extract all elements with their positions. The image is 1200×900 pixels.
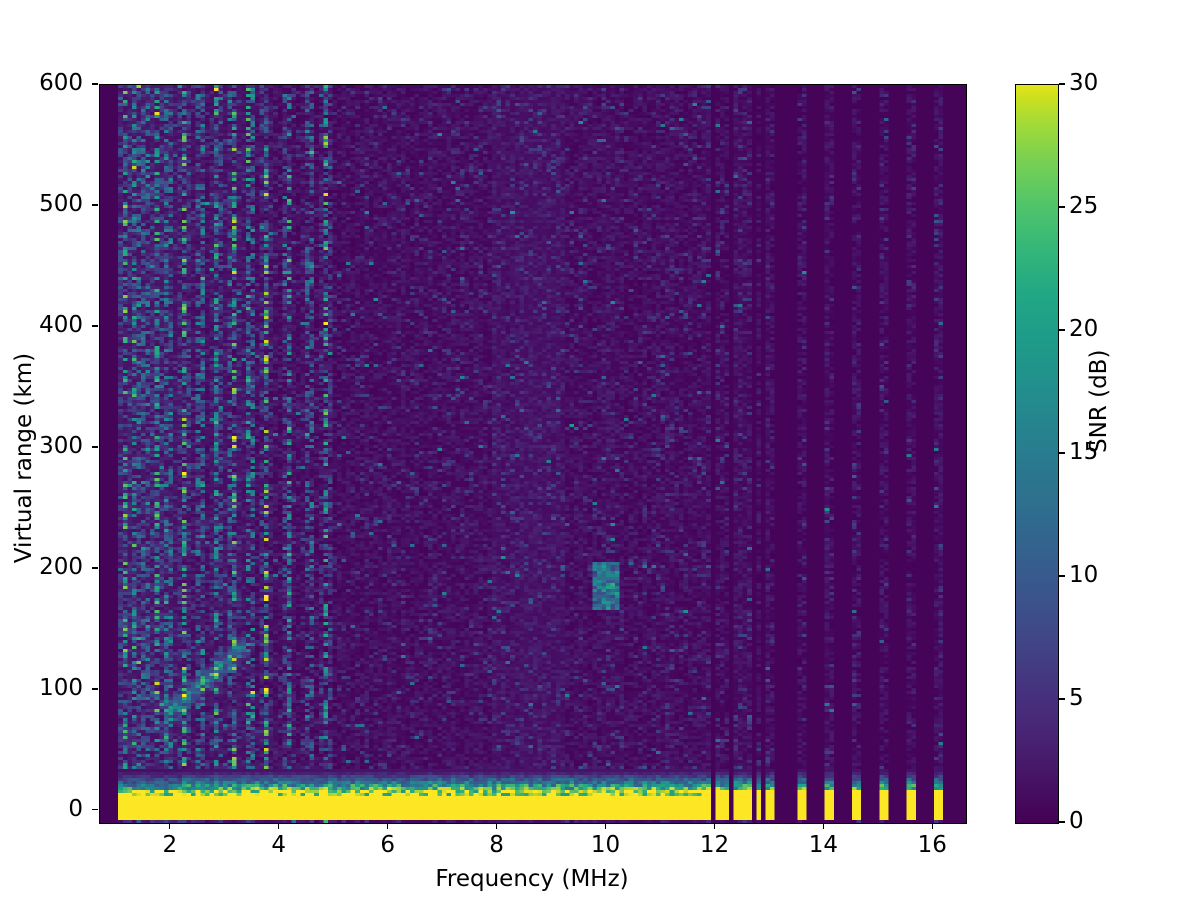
x-tick-mark: [605, 823, 606, 829]
colorbar-tick-label: 10: [1069, 564, 1098, 587]
x-tick-label: 14: [809, 834, 838, 857]
y-tick-label: 200: [39, 556, 83, 579]
colorbar-tick-mark: [1059, 329, 1065, 330]
y-tick-mark: [92, 83, 98, 84]
colorbar-tick-label: 5: [1069, 687, 1084, 710]
x-tick-mark: [714, 823, 715, 829]
x-tick-mark: [278, 823, 279, 829]
ionogram-heatmap: [100, 85, 966, 823]
colorbar-tick-label: 20: [1069, 318, 1098, 341]
x-tick-label: 16: [918, 834, 947, 857]
colorbar-tick-mark: [1059, 575, 1065, 576]
x-tick-mark: [387, 823, 388, 829]
x-tick-mark: [169, 823, 170, 829]
x-tick-mark: [823, 823, 824, 829]
y-tick-label: 600: [39, 72, 83, 95]
x-tick-label: 8: [489, 834, 504, 857]
x-tick-label: 4: [271, 834, 286, 857]
colorbar-tick-label: 0: [1069, 810, 1084, 833]
y-tick-label: 300: [39, 435, 83, 458]
y-tick-mark: [92, 204, 98, 205]
y-tick-mark: [92, 567, 98, 568]
y-tick-label: 100: [39, 677, 83, 700]
y-tick-label: 400: [39, 314, 83, 337]
colorbar-tick-mark: [1059, 452, 1065, 453]
y-tick-mark: [92, 688, 98, 689]
colorbar-axis-label: SNR (dB): [1086, 350, 1112, 453]
figure-canvas: IRF Uppsala SDR Ionosonde UP158 2026-04-…: [0, 0, 1200, 900]
colorbar-gradient: [1015, 84, 1059, 824]
x-tick-mark: [932, 823, 933, 829]
x-tick-mark: [496, 823, 497, 829]
ionogram-plot-area[interactable]: [99, 84, 967, 824]
colorbar-tick-mark: [1059, 821, 1065, 822]
x-tick-label: 6: [380, 834, 395, 857]
y-axis-label: Virtual range (km): [11, 89, 37, 827]
colorbar[interactable]: 302520151050: [1015, 84, 1057, 822]
colorbar-tick-mark: [1059, 83, 1065, 84]
colorbar-tick-label: 25: [1069, 195, 1098, 218]
y-tick-mark: [92, 809, 98, 810]
x-axis-label: Frequency (MHz): [99, 866, 965, 892]
y-tick-mark: [92, 446, 98, 447]
y-tick-label: 500: [39, 193, 83, 216]
colorbar-tick-mark: [1059, 206, 1065, 207]
y-tick-mark: [92, 325, 98, 326]
y-tick-label: 0: [68, 798, 83, 821]
x-tick-label: 2: [162, 834, 177, 857]
x-tick-label: 10: [591, 834, 620, 857]
colorbar-tick-label: 30: [1069, 72, 1098, 95]
x-tick-label: 12: [700, 834, 729, 857]
colorbar-tick-mark: [1059, 698, 1065, 699]
